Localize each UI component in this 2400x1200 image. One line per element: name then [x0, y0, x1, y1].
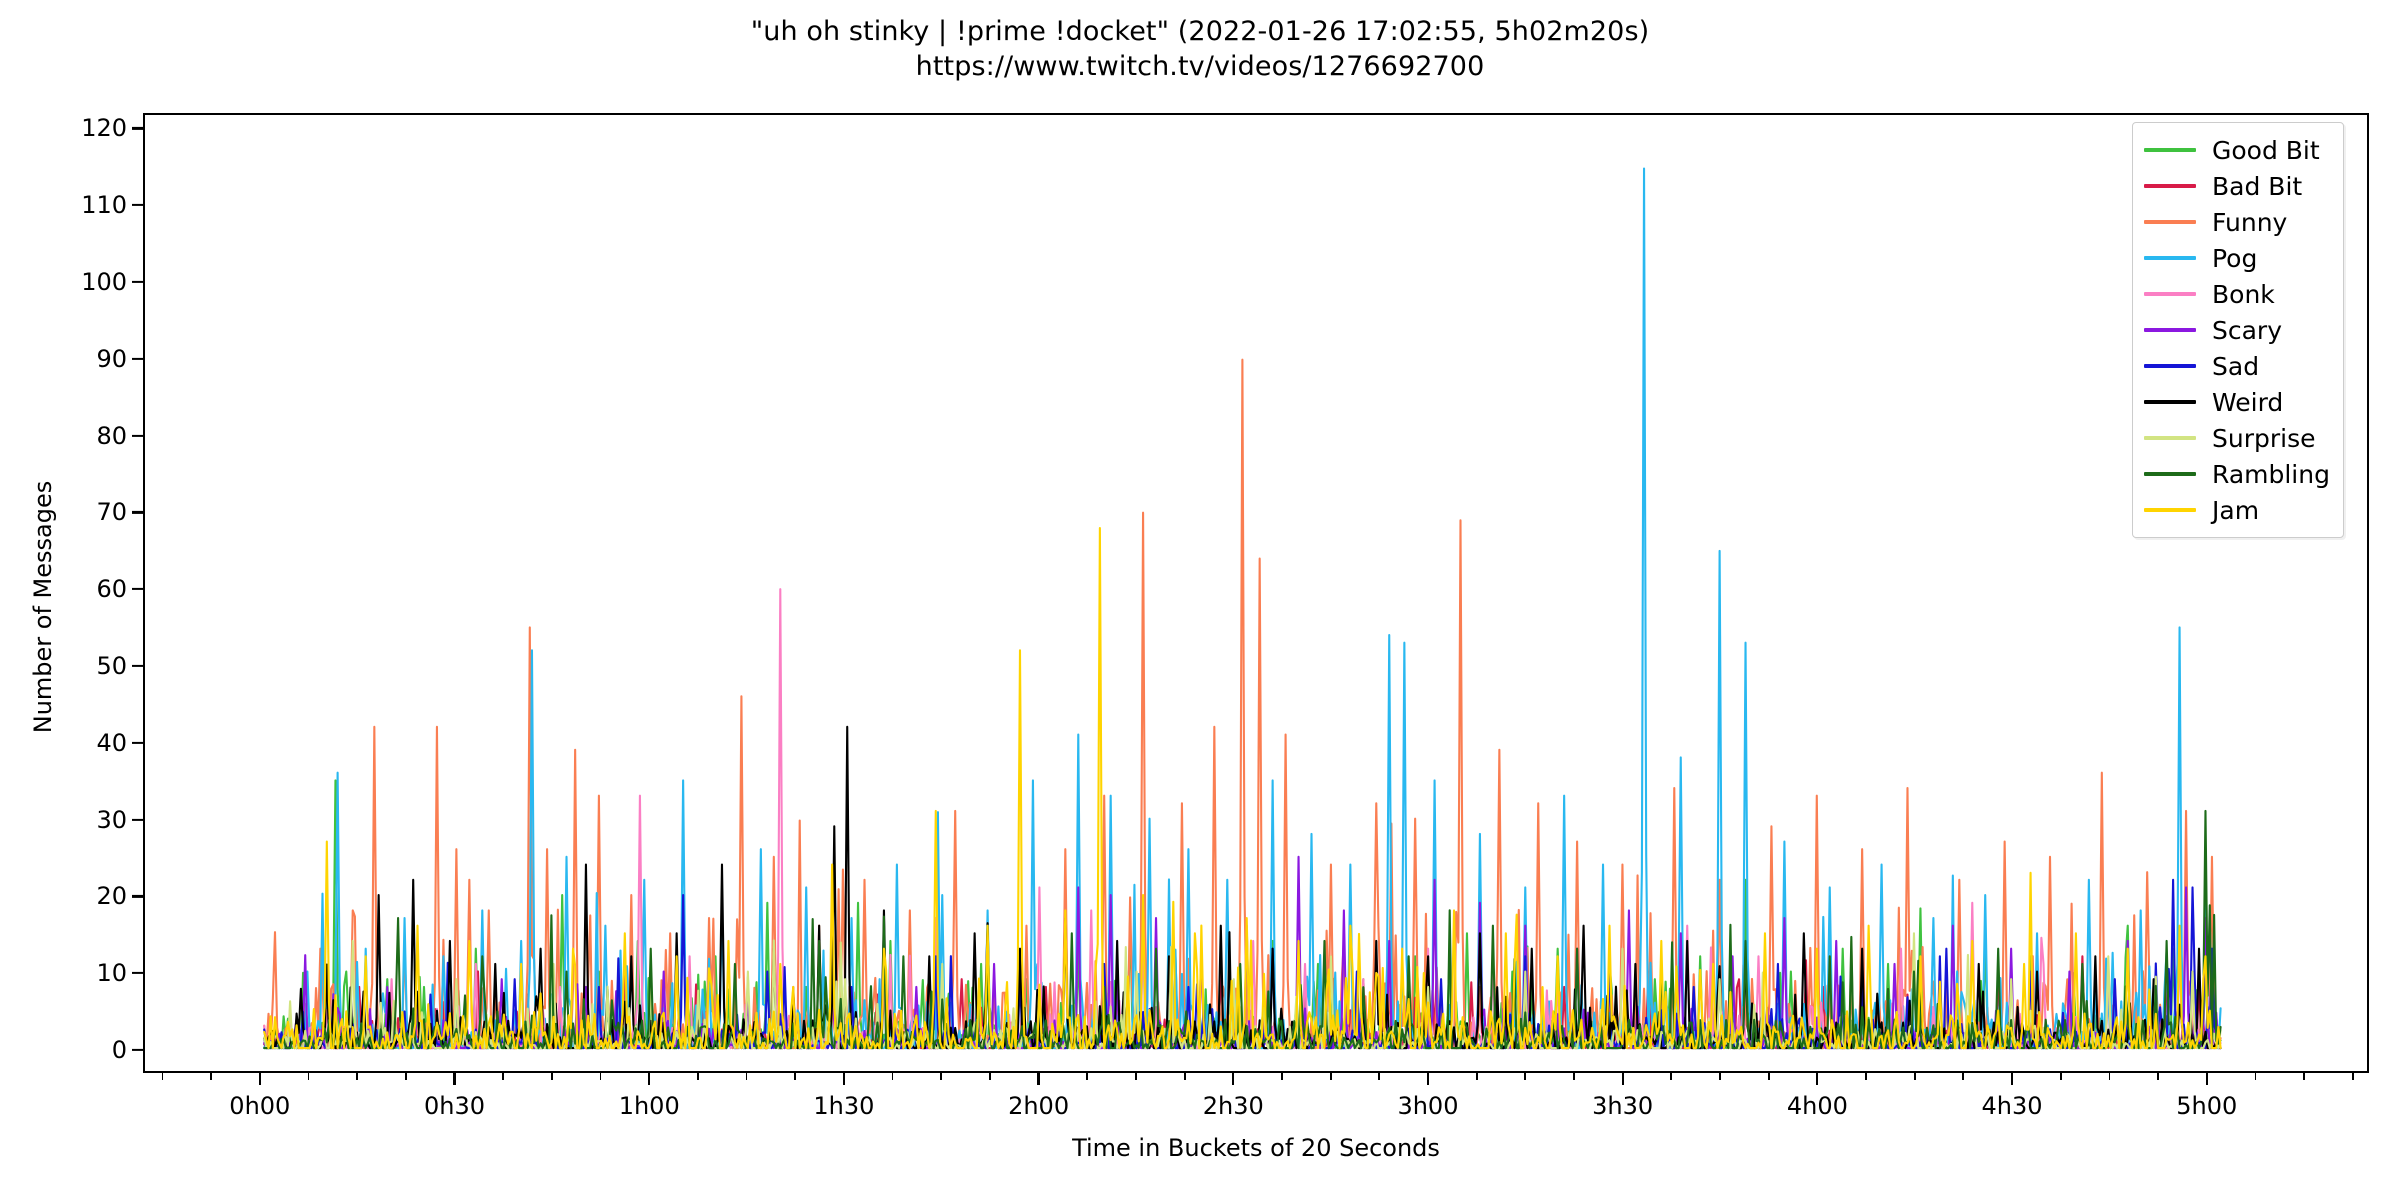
legend-color-swatch — [2144, 292, 2196, 295]
legend-color-swatch — [2144, 364, 2196, 367]
legend-item-bonk[interactable]: Bonk — [2144, 276, 2330, 312]
legend-item-pog[interactable]: Pog — [2144, 240, 2330, 276]
x-tick-mark — [1232, 1073, 1234, 1085]
y-tick-label: 30 — [96, 806, 127, 834]
legend-color-swatch — [2144, 436, 2196, 439]
chart-title: "uh oh stinky | !prime !docket" (2022-01… — [0, 14, 2400, 49]
x-tick-mark — [1816, 1073, 1818, 1085]
y-tick-label: 0 — [112, 1036, 127, 1064]
x-tick-mark-minor — [794, 1073, 796, 1080]
figure-canvas: "uh oh stinky | !prime !docket" (2022-01… — [0, 0, 2400, 1200]
legend-item-label: Scary — [2212, 318, 2282, 343]
x-tick-mark-minor — [1086, 1073, 1088, 1080]
x-tick-label: 1h00 — [619, 1092, 680, 1120]
x-tick-mark-minor — [697, 1073, 699, 1080]
legend-color-swatch — [2144, 148, 2196, 151]
x-tick-mark-minor — [2060, 1073, 2062, 1080]
legend-item-bad-bit[interactable]: Bad Bit — [2144, 168, 2330, 204]
legend-item-label: Bonk — [2212, 282, 2275, 307]
x-tick-mark-minor — [551, 1073, 553, 1080]
y-tick-mark — [132, 1049, 143, 1051]
legend-item-label: Bad Bit — [2212, 174, 2302, 199]
x-tick-mark-minor — [210, 1073, 212, 1080]
y-tick-mark — [132, 665, 143, 667]
x-tick-label: 3h00 — [1397, 1092, 1458, 1120]
x-axis-label: Time in Buckets of 20 Seconds — [143, 1134, 2369, 1162]
x-tick-mark-minor — [1524, 1073, 1526, 1080]
series-lines — [145, 115, 2367, 1071]
legend-item-weird[interactable]: Weird — [2144, 384, 2330, 420]
x-tick-mark-minor — [2303, 1073, 2305, 1080]
legend-item-label: Rambling — [2212, 462, 2330, 487]
legend-item-label: Good Bit — [2212, 138, 2320, 163]
x-tick-mark — [2206, 1073, 2208, 1085]
legend-color-swatch — [2144, 508, 2196, 511]
legend-item-label: Jam — [2212, 498, 2259, 523]
x-tick-mark-minor — [1719, 1073, 1721, 1080]
x-tick-mark-minor — [940, 1073, 942, 1080]
y-tick-mark — [132, 204, 143, 206]
x-tick-label: 5h00 — [2176, 1092, 2237, 1120]
x-tick-mark-minor — [308, 1073, 310, 1080]
x-tick-mark-minor — [1962, 1073, 1964, 1080]
x-tick-label: 4h30 — [1982, 1092, 2043, 1120]
legend-item-label: Pog — [2212, 246, 2257, 271]
legend-item-label: Sad — [2212, 354, 2259, 379]
x-tick-mark-minor — [502, 1073, 504, 1080]
y-tick-mark — [132, 742, 143, 744]
legend-item-label: Surprise — [2212, 426, 2316, 451]
y-tick-mark — [132, 588, 143, 590]
y-tick-label: 50 — [96, 652, 127, 680]
y-tick-mark — [132, 358, 143, 360]
legend-color-swatch — [2144, 472, 2196, 475]
legend-item-funny[interactable]: Funny — [2144, 204, 2330, 240]
y-tick-label: 120 — [81, 114, 127, 142]
x-tick-mark-minor — [989, 1073, 991, 1080]
x-tick-label: 2h30 — [1203, 1092, 1264, 1120]
y-tick-label: 70 — [96, 498, 127, 526]
y-tick-mark — [132, 281, 143, 283]
y-tick-label: 100 — [81, 268, 127, 296]
chart-legend[interactable]: Good BitBad BitFunnyPogBonkScarySadWeird… — [2132, 122, 2344, 538]
y-tick-mark — [132, 972, 143, 974]
x-tick-mark-minor — [892, 1073, 894, 1080]
legend-color-swatch — [2144, 400, 2196, 403]
x-tick-mark — [2011, 1073, 2013, 1085]
chart-title-block: "uh oh stinky | !prime !docket" (2022-01… — [0, 14, 2400, 84]
x-tick-mark-minor — [1184, 1073, 1186, 1080]
legend-color-swatch — [2144, 328, 2196, 331]
legend-item-surprise[interactable]: Surprise — [2144, 420, 2330, 456]
x-tick-mark — [1427, 1073, 1429, 1085]
y-tick-mark — [132, 818, 143, 820]
x-tick-label: 3h30 — [1592, 1092, 1653, 1120]
x-tick-mark — [648, 1073, 650, 1085]
x-tick-mark-minor — [1573, 1073, 1575, 1080]
x-tick-mark-minor — [1768, 1073, 1770, 1080]
y-tick-mark — [132, 434, 143, 436]
x-tick-mark-minor — [2255, 1073, 2257, 1080]
legend-item-label: Weird — [2212, 390, 2283, 415]
plot-area — [143, 113, 2369, 1073]
x-tick-mark-minor — [1330, 1073, 1332, 1080]
legend-color-swatch — [2144, 220, 2196, 223]
x-tick-mark-minor — [1281, 1073, 1283, 1080]
x-tick-mark-minor — [2109, 1073, 2111, 1080]
x-tick-mark-minor — [600, 1073, 602, 1080]
y-tick-label: 80 — [96, 422, 127, 450]
y-tick-mark — [132, 895, 143, 897]
x-tick-mark-minor — [2352, 1073, 2354, 1080]
y-tick-label: 20 — [96, 882, 127, 910]
x-tick-label: 4h00 — [1787, 1092, 1848, 1120]
x-tick-mark — [1037, 1073, 1039, 1085]
x-tick-mark-minor — [1865, 1073, 1867, 1080]
legend-color-swatch — [2144, 184, 2196, 187]
y-tick-label: 10 — [96, 959, 127, 987]
legend-item-sad[interactable]: Sad — [2144, 348, 2330, 384]
x-tick-label: 2h00 — [1008, 1092, 1069, 1120]
legend-item-rambling[interactable]: Rambling — [2144, 456, 2330, 492]
y-tick-label: 90 — [96, 345, 127, 373]
y-tick-label: 110 — [81, 191, 127, 219]
x-tick-mark-minor — [1914, 1073, 1916, 1080]
x-tick-mark-minor — [1378, 1073, 1380, 1080]
x-tick-label: 0h00 — [229, 1092, 290, 1120]
legend-color-swatch — [2144, 256, 2196, 259]
x-tick-mark-minor — [356, 1073, 358, 1080]
x-tick-mark — [453, 1073, 455, 1085]
x-tick-mark — [259, 1073, 261, 1085]
chart-subtitle-url: https://www.twitch.tv/videos/1276692700 — [0, 49, 2400, 84]
legend-item-jam[interactable]: Jam — [2144, 492, 2330, 528]
x-tick-mark-minor — [1476, 1073, 1478, 1080]
y-tick-label: 40 — [96, 729, 127, 757]
y-tick-mark — [132, 511, 143, 513]
legend-item-label: Funny — [2212, 210, 2287, 235]
series-line-funny — [264, 360, 2220, 1048]
x-tick-mark-minor — [1670, 1073, 1672, 1080]
x-tick-mark-minor — [405, 1073, 407, 1080]
x-tick-mark-minor — [1135, 1073, 1137, 1080]
legend-item-good-bit[interactable]: Good Bit — [2144, 132, 2330, 168]
x-tick-mark — [1622, 1073, 1624, 1085]
legend-item-scary[interactable]: Scary — [2144, 312, 2330, 348]
x-tick-label: 0h30 — [424, 1092, 485, 1120]
plot-clip — [145, 115, 2367, 1071]
x-tick-mark-minor — [2157, 1073, 2159, 1080]
y-tick-label: 60 — [96, 575, 127, 603]
y-tick-mark — [132, 127, 143, 129]
x-tick-label: 1h30 — [813, 1092, 874, 1120]
x-tick-mark-minor — [162, 1073, 164, 1080]
x-tick-mark — [843, 1073, 845, 1085]
y-axis-ticks: 0102030405060708090100110120 — [0, 0, 143, 1200]
x-tick-mark-minor — [746, 1073, 748, 1080]
